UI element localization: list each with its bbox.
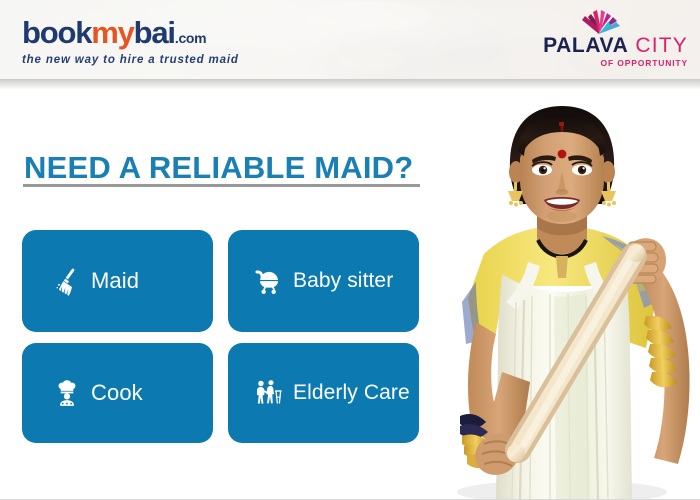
brand-part-dotcom: .com xyxy=(175,30,206,46)
service-label-cook: Cook xyxy=(91,380,143,406)
broom-icon xyxy=(50,264,84,298)
partner-logo-palava-city[interactable]: PALAVA CITY OF OPPORTUNITY xyxy=(543,8,688,68)
hero-maid-photo xyxy=(432,86,700,500)
chef-icon xyxy=(50,376,84,410)
title-divider xyxy=(23,184,420,187)
promo-banner: bookmybai.com the new way to hire a trus… xyxy=(0,0,700,500)
service-label-elderly-care: Elderly Care xyxy=(293,381,410,405)
service-buttons-grid: Maid Baby sitter xyxy=(22,230,419,443)
palava-fan-icon xyxy=(576,8,622,34)
service-label-baby-sitter: Baby sitter xyxy=(293,269,393,293)
brand-part-book: book xyxy=(22,15,91,50)
palava-subtitle: OF OPPORTUNITY xyxy=(543,59,688,68)
brand-part-bai: bai xyxy=(134,15,175,50)
service-button-baby-sitter[interactable]: Baby sitter xyxy=(228,230,419,332)
baby-stroller-icon xyxy=(252,264,286,298)
brand-tagline: the new way to hire a trusted maid xyxy=(22,55,239,67)
elderly-care-icon xyxy=(252,376,286,410)
service-button-elderly-care[interactable]: Elderly Care xyxy=(228,343,419,443)
service-button-cook[interactable]: Cook xyxy=(22,343,213,443)
palava-city: CITY xyxy=(635,35,688,56)
service-label-maid: Maid xyxy=(91,268,139,294)
brand-wordmark: bookmybai.com xyxy=(22,17,239,48)
service-button-maid[interactable]: Maid xyxy=(22,230,213,332)
palava-wordmark-row: PALAVA CITY xyxy=(543,35,688,56)
page-header: bookmybai.com the new way to hire a trus… xyxy=(0,0,700,79)
palava-name: PALAVA xyxy=(543,35,628,56)
brand-logo[interactable]: bookmybai.com the new way to hire a trus… xyxy=(22,17,239,67)
brand-part-my: my xyxy=(91,15,133,50)
page-title: NEED A RELIABLE MAID? xyxy=(24,150,413,186)
